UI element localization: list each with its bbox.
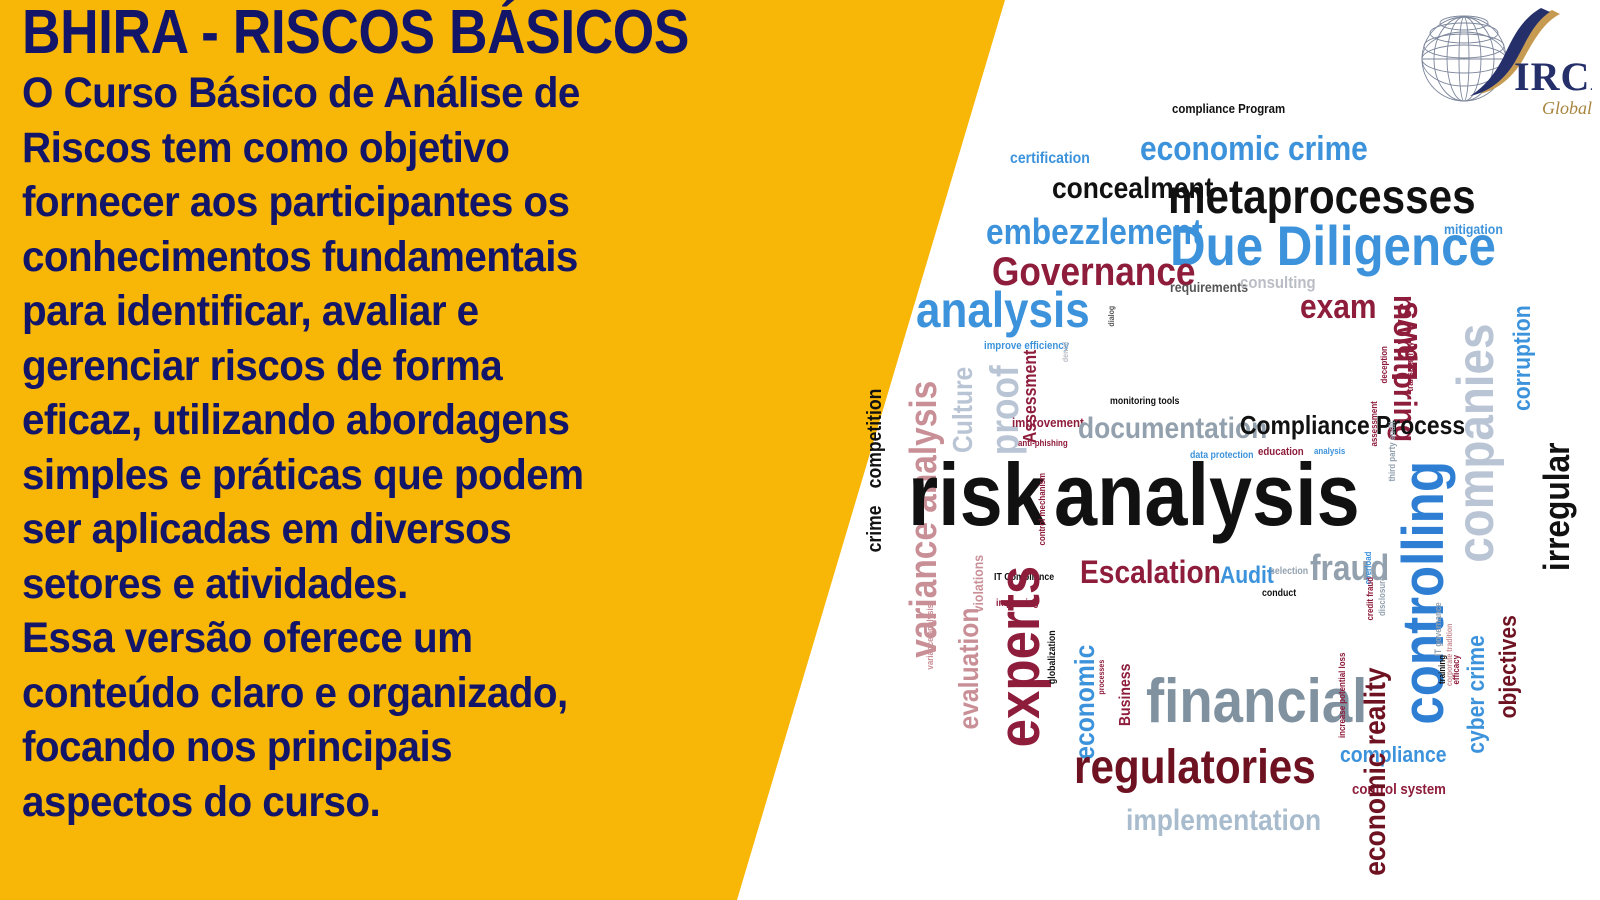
wordcloud-word: credit fraud [1366, 577, 1375, 621]
logo-wordmark: IRCA [1514, 54, 1592, 99]
wordcloud-word: Business [1118, 664, 1133, 727]
wordcloud-word: documentation [1078, 415, 1267, 444]
wordcloud-word: corporate tradition [1446, 624, 1454, 687]
wordcloud-word: improvement [1012, 417, 1084, 429]
wordcloud-word: violations [972, 555, 985, 613]
wordcloud-word: compliance Program [1172, 103, 1285, 115]
wordcloud-word: irregular [1540, 443, 1574, 572]
wordcloud-word: analysis [1054, 453, 1360, 537]
wordcloud-word: requirements [1170, 281, 1248, 294]
wordcloud-word: Escalation [1080, 557, 1221, 587]
wordcloud-word: globalization [1048, 630, 1058, 684]
wordcloud-word: objectives [1498, 615, 1521, 718]
wordcloud-word: regulatories [1074, 745, 1316, 791]
wordcloud-word: variance analysis [926, 604, 935, 670]
wordcloud-word: economic crime [1140, 133, 1368, 165]
wordcloud-word: assessment [1370, 401, 1379, 446]
wordcloud-word: companies [1452, 324, 1501, 563]
wordcloud-word: experts [992, 566, 1047, 748]
wordcloud-word: Compliance Process [1240, 413, 1465, 438]
description-line: focando nos principais [22, 720, 765, 775]
wordcloud-word: economic reality [1362, 667, 1391, 875]
wordcloud-word: compliance [1340, 745, 1447, 766]
wordcloud-word: transparency [1406, 342, 1415, 392]
wordcloud-word: financial [1146, 673, 1367, 732]
description-line: para identificar, avaliar e [22, 284, 765, 339]
wordcloud-word: disclosure [1378, 576, 1387, 616]
wordcloud-word: Culture [950, 367, 977, 453]
description-line: simples e práticas que podem [22, 448, 765, 503]
logo-svg: IRCA Global [1402, 4, 1592, 132]
irca-global-logo: IRCA Global [1402, 4, 1592, 132]
wordcloud: compliance Programcertificationeconomic … [840, 95, 1600, 885]
description-line: Essa versão oferece um [22, 611, 765, 666]
wordcloud-word: implementation [1126, 807, 1321, 836]
wordcloud-word: controlling [1396, 461, 1451, 725]
wordcloud-word: processes [1098, 660, 1106, 695]
wordcloud-word: corruption [1512, 305, 1535, 411]
wordcloud-word: competition [866, 389, 885, 489]
wordcloud-word: IT governance [1434, 602, 1443, 656]
description-line: conteúdo claro e organizado, [22, 666, 765, 721]
wordcloud-word: conduct [1262, 589, 1296, 599]
wordcloud-word: increase potential loss [1338, 653, 1347, 738]
wordcloud-word: certification [1010, 151, 1090, 166]
wordcloud-word: deception [1380, 346, 1389, 383]
description-line: fornecer aos participantes os [22, 175, 765, 230]
course-description: O Curso Básico de Análise deRiscos tem c… [22, 66, 765, 829]
wordcloud-word: analysis [916, 287, 1090, 335]
wordcloud-word: monitoring tools [1110, 397, 1179, 407]
logo-tagline: Global [1542, 98, 1592, 118]
description-line: Riscos tem como objetivo [22, 121, 765, 176]
wordcloud-word: selection [1270, 567, 1308, 577]
wordcloud-word: control mechanism [1038, 473, 1047, 546]
wordcloud-word: dialog [1108, 306, 1116, 327]
description-line: aspectos do curso. [22, 775, 765, 830]
description-line: conhecimentos fundamentais [22, 230, 765, 285]
slide-canvas: BHIRA - RISCOS BÁSICOS O Curso Básico de… [0, 0, 1600, 900]
description-line: ser aplicadas em diversos [22, 502, 765, 557]
description-line: gerenciar riscos de forma [22, 339, 765, 394]
wordcloud-word: denial [1062, 342, 1070, 362]
wordcloud-word: crime [866, 505, 885, 552]
description-line: O Curso Básico de Análise de [22, 66, 765, 121]
wordcloud-word: risk [908, 453, 1046, 537]
wordcloud-word: cyber crime [1466, 635, 1489, 754]
left-text-column: BHIRA - RISCOS BÁSICOS O Curso Básico de… [22, 2, 812, 898]
description-line: eficaz, utilizando abordagens [22, 393, 765, 448]
wordcloud-word: exam [1300, 291, 1377, 323]
wordcloud-word: Audit [1220, 565, 1274, 588]
page-title: BHIRA - RISCOS BÁSICOS [22, 2, 701, 64]
wordcloud-word: mitigation [1444, 223, 1503, 236]
description-line: setores e atividades. [22, 557, 765, 612]
wordcloud-word: evaluation [956, 608, 983, 730]
